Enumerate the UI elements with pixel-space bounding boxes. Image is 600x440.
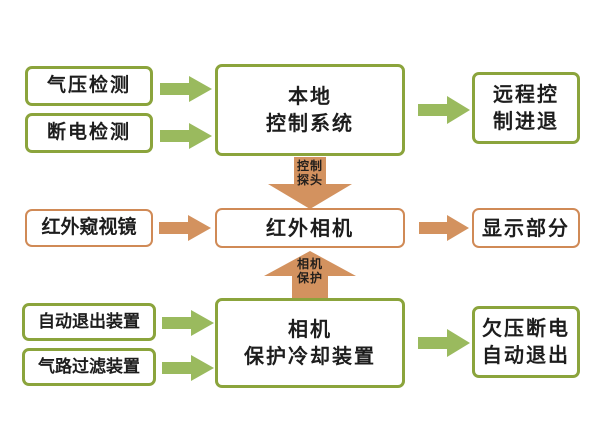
node-power-cut-detect[interactable]: 断电检测 xyxy=(25,113,153,153)
arrow-pressure-to-local-control xyxy=(160,76,212,102)
node-undervoltage-auto-retract[interactable]: 欠压断电 自动退出 xyxy=(472,306,580,378)
arrow-auto-retract-to-cooling xyxy=(162,310,214,336)
node-remote-control[interactable]: 远程控 制进退 xyxy=(472,72,580,144)
arrow-camera-protection-up xyxy=(264,251,356,303)
arrow-endoscope-to-camera xyxy=(159,215,211,241)
node-local-control-system[interactable]: 本地 控制系统 xyxy=(215,64,405,156)
node-gas-filter-device[interactable]: 气路过滤装置 xyxy=(22,348,156,386)
node-camera-cooling-device[interactable]: 相机 保护冷却装置 xyxy=(215,298,405,388)
arrow-power-cut-to-local-control xyxy=(160,123,212,149)
arrow-control-probe-down xyxy=(268,157,352,209)
node-display-part[interactable]: 显示部分 xyxy=(472,208,580,248)
arrow-cooling-to-undervoltage xyxy=(418,329,470,357)
node-auto-retract-device[interactable]: 自动退出装置 xyxy=(22,303,156,341)
flow-diagram-canvas: 气压检测 断电检测 本地 控制系统 远程控 制进退 控制 探头 红外窥视镜 红外… xyxy=(0,0,600,440)
arrow-camera-to-display xyxy=(419,215,469,241)
node-infrared-camera[interactable]: 红外相机 xyxy=(215,208,405,248)
node-pressure-detect[interactable]: 气压检测 xyxy=(25,66,153,106)
arrow-gas-filter-to-cooling xyxy=(162,355,214,381)
node-infrared-endoscope[interactable]: 红外窥视镜 xyxy=(25,209,153,247)
arrow-local-control-to-remote xyxy=(418,96,470,124)
